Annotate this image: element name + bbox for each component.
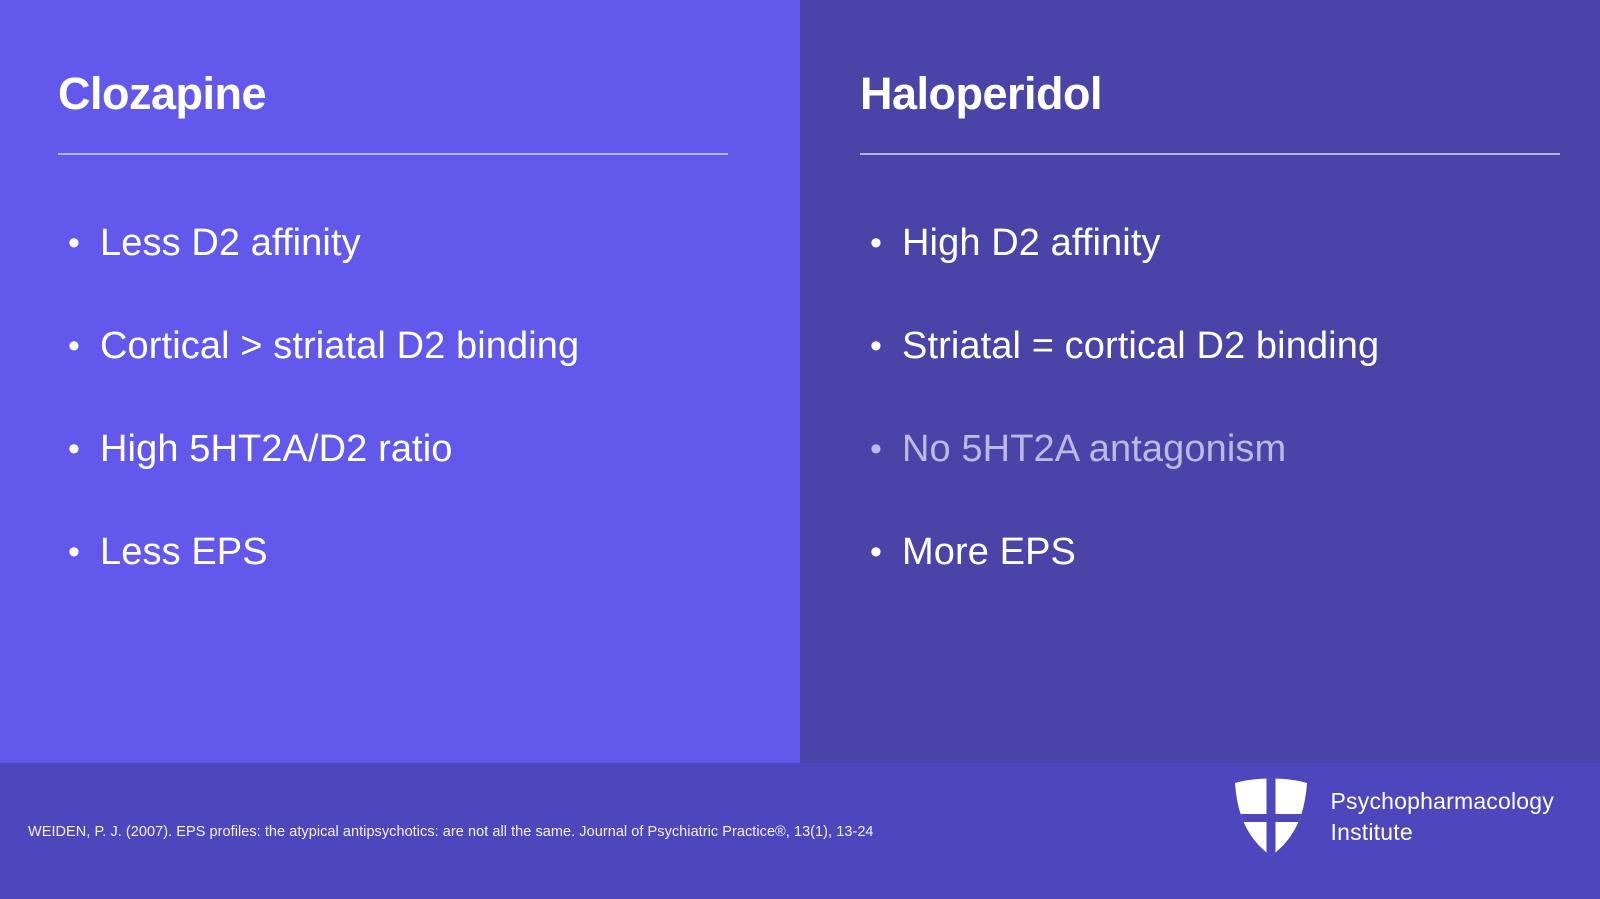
bullet-dot-icon: •: [58, 425, 100, 473]
bullet-list-clozapine: • Less D2 affinity • Cortical > striatal…: [58, 155, 728, 576]
footer-bar: WEIDEN, P. J. (2007). EPS profiles: the …: [0, 763, 1600, 899]
shield-cross-icon: [1233, 777, 1309, 857]
list-item: • More EPS: [860, 528, 1560, 576]
column-clozapine: Clozapine • Less D2 affinity • Cortical …: [0, 0, 800, 763]
bullet-dot-icon: •: [58, 322, 100, 370]
list-item: • Less D2 affinity: [58, 219, 728, 267]
list-item: • Striatal = cortical D2 binding: [860, 322, 1560, 370]
bullet-text: No 5HT2A antagonism: [902, 425, 1286, 473]
bullet-text: Cortical > striatal D2 binding: [100, 322, 579, 370]
bullet-text: Less D2 affinity: [100, 219, 361, 267]
brand-name-line1: Psychopharmacology: [1331, 786, 1555, 817]
bullet-text: High 5HT2A/D2 ratio: [100, 425, 453, 473]
bullet-dot-icon: •: [860, 322, 902, 370]
bullet-dot-icon: •: [860, 219, 902, 267]
brand-lockup: Psychopharmacology Institute: [1233, 777, 1555, 857]
bullet-dot-icon: •: [860, 425, 902, 473]
column-haloperidol: Haloperidol • High D2 affinity • Striata…: [800, 0, 1600, 763]
slide: Clozapine • Less D2 affinity • Cortical …: [0, 0, 1600, 899]
bullet-dot-icon: •: [58, 528, 100, 576]
bullet-text: Striatal = cortical D2 binding: [902, 322, 1379, 370]
bullet-dot-icon: •: [58, 219, 100, 267]
title-divider-left: [58, 153, 728, 155]
title-divider-right: [860, 153, 1560, 155]
brand-name: Psychopharmacology Institute: [1331, 786, 1555, 848]
comparison-panels: Clozapine • Less D2 affinity • Cortical …: [0, 0, 1600, 763]
list-item: • High D2 affinity: [860, 219, 1560, 267]
citation-text: WEIDEN, P. J. (2007). EPS profiles: the …: [28, 823, 968, 842]
bullet-text: More EPS: [902, 528, 1076, 576]
bullet-text: High D2 affinity: [902, 219, 1161, 267]
list-item: • Less EPS: [58, 528, 728, 576]
column-title-clozapine: Clozapine: [58, 0, 728, 120]
list-item: • No 5HT2A antagonism: [860, 425, 1560, 473]
column-title-haloperidol: Haloperidol: [860, 0, 1560, 120]
bullet-dot-icon: •: [860, 528, 902, 576]
list-item: • High 5HT2A/D2 ratio: [58, 425, 728, 473]
bullet-list-haloperidol: • High D2 affinity • Striatal = cortical…: [860, 155, 1560, 576]
list-item: • Cortical > striatal D2 binding: [58, 322, 728, 370]
brand-name-line2: Institute: [1331, 817, 1555, 848]
bullet-text: Less EPS: [100, 528, 268, 576]
